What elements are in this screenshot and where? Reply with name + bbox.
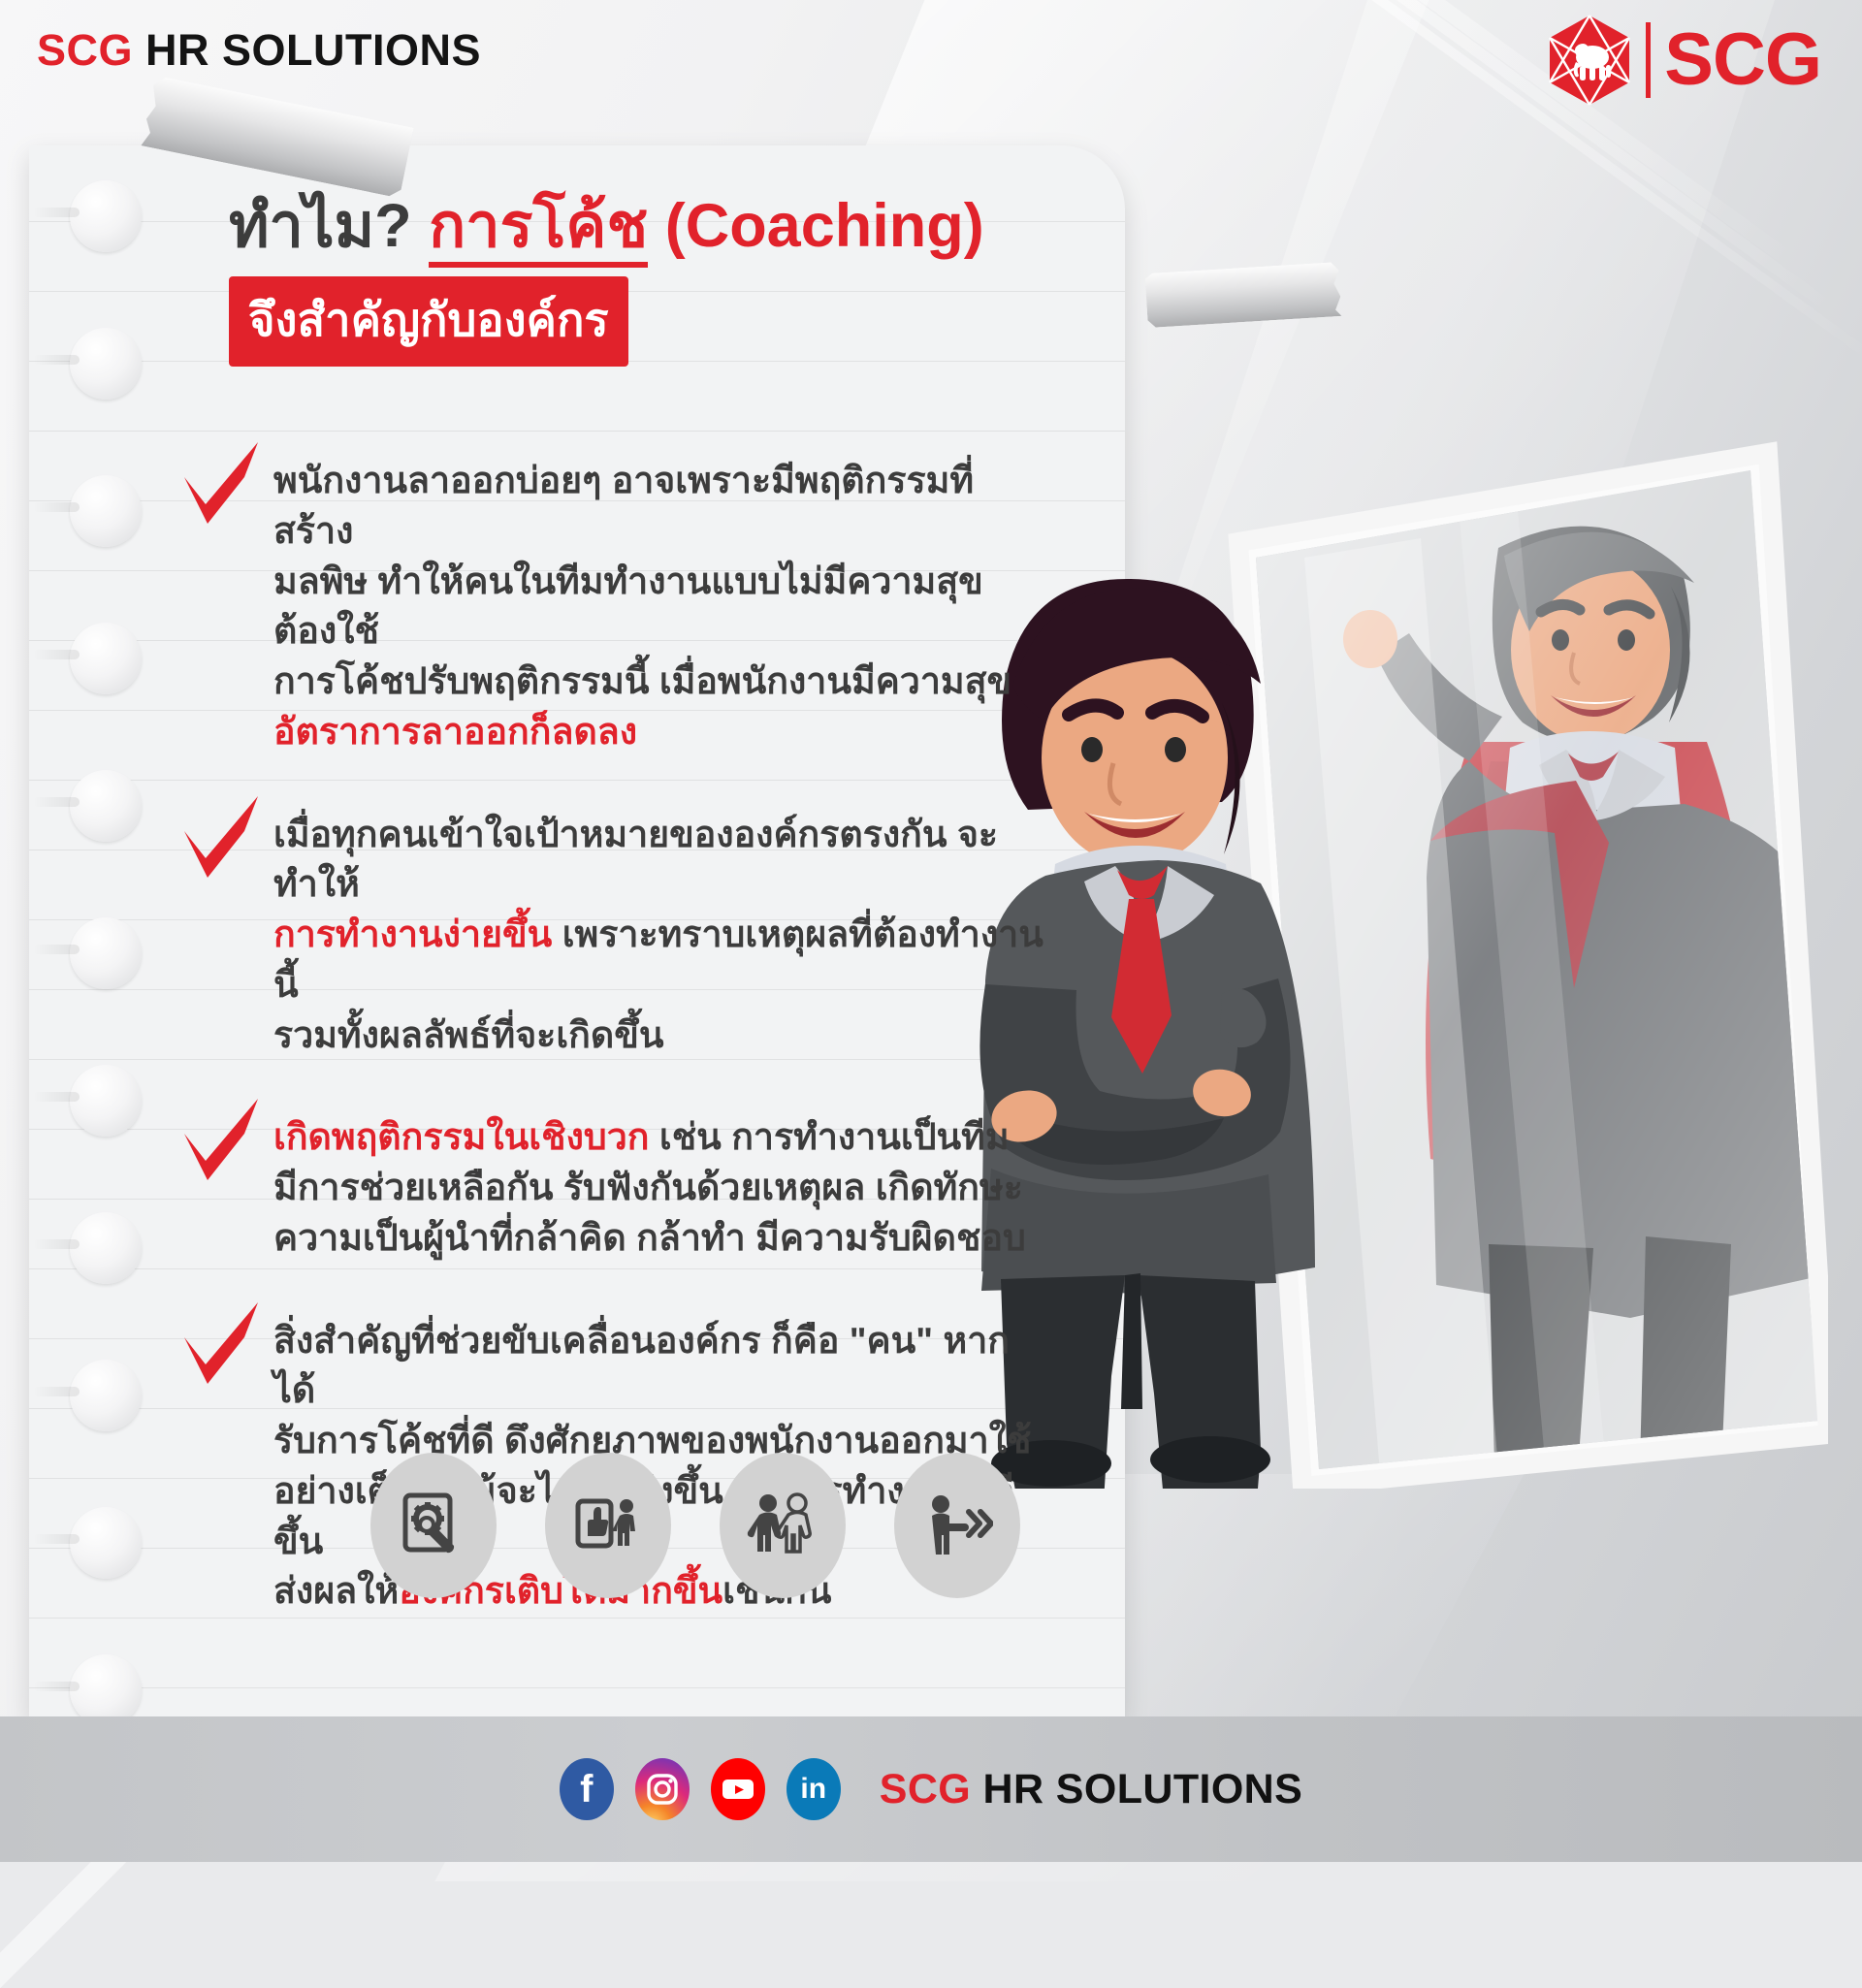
red-check-icon <box>173 788 270 885</box>
page-title: ทำไม? การโค้ช (Coaching) <box>229 192 1082 261</box>
list-item-text: เกิดพฤติกรรมในเชิงบวก เช่น การทำงานเป็นท… <box>273 1112 1043 1263</box>
body-text: สิ่งสำคัญที่ช่วยขับเคลื่อนองค์กร ก็คือ "… <box>273 1320 1010 1411</box>
binding-hole <box>70 328 142 400</box>
body-text: เช่น การทำงานเป็นทีม <box>649 1116 1009 1157</box>
binding-hole <box>70 1654 142 1726</box>
highlight-text: การทำงานง่ายขึ้น <box>273 914 552 954</box>
binding-hole <box>70 1065 142 1137</box>
list-item-line: มลพิษ ทำให้คนในทีมทำงานแบบไม่มีความสุข ต… <box>273 557 1043 657</box>
body-text: ความเป็นผู้นำที่กล้าคิด กล้าทำ มีความรับ… <box>273 1217 1026 1258</box>
footer-brand: SCG HR SOLUTIONS <box>880 1766 1302 1813</box>
body-text: มลพิษ ทำให้คนในทีมทำงานแบบไม่มีความสุข ต… <box>273 561 983 652</box>
list-item-line: ความเป็นผู้นำที่กล้าคิด กล้าทำ มีความรับ… <box>273 1213 1043 1264</box>
list-item-line: รวมทั้งผลลัพธ์ที่จะเกิดขึ้น <box>273 1010 1043 1061</box>
list-item-line: การทำงานง่ายขึ้น เพราะทราบเหตุผลที่ต้องท… <box>273 910 1043 1010</box>
binding-hole <box>70 1360 142 1431</box>
body-text: มีการช่วยเหลือกัน รับฟังกันด้วยเหตุผล เก… <box>273 1167 1023 1207</box>
header: SCG HR SOLUTIONS <box>0 0 1862 105</box>
list-item-line: มีการช่วยเหลือกัน รับฟังกันด้วยเหตุผล เก… <box>273 1163 1043 1213</box>
facebook-icon[interactable]: f <box>560 1758 614 1820</box>
scg-logo-word: SCG <box>1664 25 1821 95</box>
paper-line <box>29 431 1125 432</box>
list-item-text: พนักงานลาออกบ่อยๆ อาจเพราะมีพฤติกรรมที่ส… <box>273 456 1043 757</box>
linkedin-icon[interactable]: in <box>787 1758 841 1820</box>
footer: f in SCG HR SOLUTIONS <box>0 1716 1862 1862</box>
body-text: การโค้ชปรับพฤติกรรมนี้ เมื่อพนักงานมีควา… <box>273 660 1011 701</box>
youtube-icon[interactable] <box>711 1758 765 1820</box>
headline-keyword: การโค้ช <box>429 192 648 268</box>
spiral-binding-holes <box>29 145 138 1716</box>
two-people-icon <box>720 1453 846 1598</box>
headline-english: (Coaching) <box>648 192 983 260</box>
highlight-text: เกิดพฤติกรรมในเชิงบวก <box>273 1116 649 1157</box>
binding-hole <box>70 1212 142 1284</box>
person-pointing-forward-icon <box>894 1453 1020 1598</box>
instagram-icon[interactable] <box>635 1758 690 1820</box>
list-item-line: เมื่อทุกคนเข้าใจเป้าหมายขององค์กรตรงกัน … <box>273 810 1043 911</box>
red-check-icon <box>173 1091 270 1188</box>
footer-brand-hr: HR SOLUTIONS <box>983 1766 1303 1812</box>
list-item-line: อัตราการลาออกก็ลดลง <box>273 707 1043 757</box>
status-badge: จึงสำคัญกับองค์กร <box>229 276 628 367</box>
list-item-line: การโค้ชปรับพฤติกรรมนี้ เมื่อพนักงานมีควา… <box>273 657 1043 707</box>
scg-elephant-hexagon-logo-icon <box>1547 14 1632 107</box>
list-item-line: สิ่งสำคัญที่ช่วยขับเคลื่อนองค์กร ก็คือ "… <box>273 1316 1043 1417</box>
headline-block: ทำไม? การโค้ช (Coaching) จึงสำคัญกับองค์… <box>229 192 1082 367</box>
brand-top-scg: SCG <box>37 25 133 75</box>
headline-plain: ทำไม? <box>229 192 429 260</box>
list-item-text: เมื่อทุกคนเข้าใจเป้าหมายขององค์กรตรงกัน … <box>273 810 1043 1061</box>
gear-wrench-screen-icon <box>370 1453 497 1598</box>
brand-top: SCG HR SOLUTIONS <box>37 25 481 76</box>
icon-row <box>370 1453 1020 1598</box>
brand-top-hr: HR SOLUTIONS <box>145 25 481 75</box>
list-item-line: เกิดพฤติกรรมในเชิงบวก เช่น การทำงานเป็นท… <box>273 1112 1043 1163</box>
highlight-text: อัตราการลาออกก็ลดลง <box>273 711 637 752</box>
body-text: เมื่อทุกคนเข้าใจเป้าหมายขององค์กรตรงกัน … <box>273 814 998 905</box>
thumbs-up-person-icon <box>545 1453 671 1598</box>
red-check-icon <box>173 1295 270 1392</box>
list-item-line: พนักงานลาออกบ่อยๆ อาจเพราะมีพฤติกรรมที่ส… <box>273 456 1043 557</box>
red-check-icon <box>173 434 270 531</box>
list-item: เกิดพฤติกรรมในเชิงบวก เช่น การทำงานเป็นท… <box>180 1112 1043 1263</box>
binding-hole <box>70 623 142 694</box>
binding-hole <box>70 770 142 842</box>
list-item: พนักงานลาออกบ่อยๆ อาจเพราะมีพฤติกรรมที่ส… <box>180 456 1043 757</box>
binding-hole <box>70 917 142 989</box>
body-text: พนักงานลาออกบ่อยๆ อาจเพราะมีพฤติกรรมที่ส… <box>273 460 974 551</box>
logo-divider <box>1646 22 1651 98</box>
binding-hole <box>70 1507 142 1579</box>
binding-hole <box>70 475 142 547</box>
scg-logo: SCG <box>1547 14 1821 107</box>
footer-brand-scg: SCG <box>880 1766 971 1812</box>
body-text: รวมทั้งผลลัพธ์ที่จะเกิดขึ้น <box>273 1014 663 1055</box>
binding-hole <box>70 180 142 252</box>
list-item: เมื่อทุกคนเข้าใจเป้าหมายขององค์กรตรงกัน … <box>180 810 1043 1061</box>
paper-line <box>29 1687 1125 1688</box>
